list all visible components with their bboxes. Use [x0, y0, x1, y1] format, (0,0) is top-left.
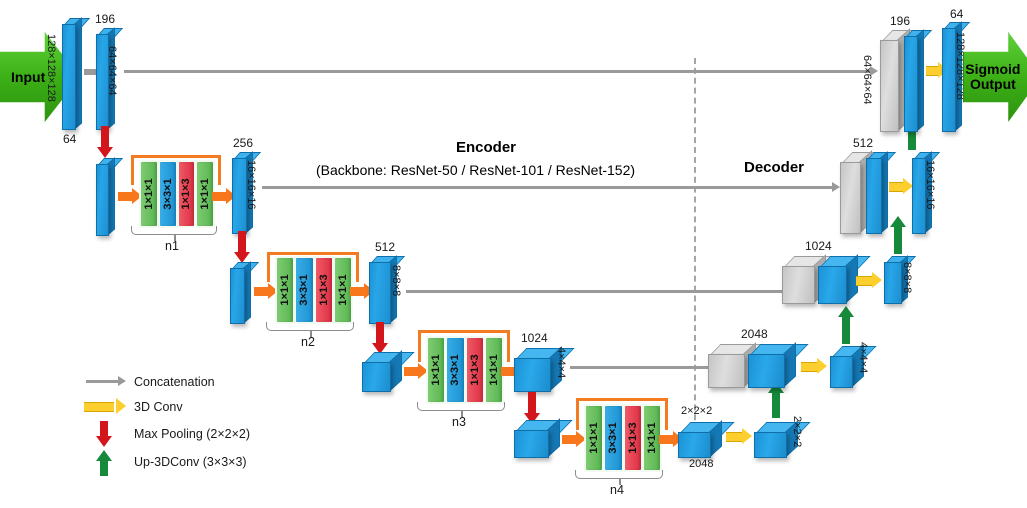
legend: Concatenation 3D Conv Max Pooling (2×2×2… [82, 372, 312, 472]
output-chevron: Sigmoid Output [963, 32, 1027, 122]
channels-256: 256 [233, 137, 253, 149]
feature-block-row3-in [362, 352, 402, 392]
repeat-label-n2: n2 [301, 335, 315, 349]
residual-block-n4: 1×1×1 3×3×1 1×1×3 1×1×1 [584, 404, 662, 472]
legend-concatenation-head-icon [118, 376, 126, 386]
conv-layer-1x1x1-b: 1×1×1 [486, 338, 502, 402]
residual-in-arrow-n3 [404, 363, 428, 380]
brace-n2 [266, 322, 354, 331]
decoder-resolution-1: 64×64×64 [861, 55, 872, 105]
concat-line-row3 [570, 366, 718, 369]
bottleneck-resolution-top: 2×2×2 [681, 406, 712, 417]
bottleneck-channels: 2048 [689, 459, 713, 470]
feature-block-row1-in [96, 158, 115, 236]
architecture-diagram: Encoder (Backbone: ResNet-50 / ResNet-10… [0, 0, 1027, 508]
conv-layer-1x1x1-a: 1×1×1 [428, 338, 444, 402]
input-label: Input [11, 70, 45, 85]
decoder-title: Decoder [744, 159, 804, 176]
conv-layer-1x1x1-b: 1×1×1 [197, 162, 213, 226]
legend-conv3d-icon [84, 398, 126, 414]
decoder-block-2 [866, 152, 888, 234]
legend-label-concatenation: Concatenation [134, 375, 215, 389]
conv-layer-3x3x1: 3×3×1 [296, 258, 312, 322]
upconv-arrow-2 [890, 216, 906, 254]
output-channels-64: 64 [950, 8, 963, 20]
brace-n3 [417, 402, 505, 411]
decoder-block-4 [748, 344, 796, 388]
conv-layer-1x1x3: 1×1×3 [316, 258, 332, 322]
conv3d-arrow-dec4 [801, 358, 827, 374]
resolution-64-enc: 64×64×64 [106, 46, 117, 96]
conv-layer-1x1x3: 1×1×3 [467, 338, 483, 402]
conv-layer-1x1x1-a: 1×1×1 [277, 258, 293, 322]
conv-layer-1x1x1-a: 1×1×1 [141, 162, 157, 226]
concat-channels-2048: 2048 [741, 328, 768, 340]
maxpool-arrow-3 [372, 322, 388, 354]
bottleneck-out-resolution: 2×2×2 [791, 416, 802, 447]
conv-layer-3x3x1: 3×3×1 [160, 162, 176, 226]
output-label: Sigmoid Output [965, 62, 1020, 91]
decoder-resolution-4: 4×4×4 [857, 342, 868, 373]
concat-line-row0 [124, 70, 872, 73]
conv-layer-1x1x1-a: 1×1×1 [586, 406, 602, 470]
resolution-16-enc: 16×16×16 [245, 160, 256, 210]
concat-channels-196: 196 [890, 15, 910, 27]
repeat-label-n1: n1 [165, 239, 179, 253]
legend-maxpool-icon [96, 421, 112, 447]
channels-512-enc: 512 [375, 241, 395, 253]
legend-label-upconv: Up-3DConv (3×3×3) [134, 455, 247, 469]
decoder-resolution-2: 16×16×16 [924, 160, 935, 210]
channels-64-stem: 64 [63, 133, 76, 145]
conv-layer-1x1x3: 1×1×3 [179, 162, 195, 226]
concat-channels-1024: 1024 [805, 240, 832, 252]
conv-layer-3x3x1: 3×3×1 [447, 338, 463, 402]
repeat-label-n3: n3 [452, 415, 466, 429]
maxpool-arrow-1 [97, 126, 113, 158]
conv3d-arrow-dec3 [856, 272, 882, 288]
conv3d-arrow-bottleneck [726, 428, 752, 444]
concat-line-row2 [406, 290, 786, 293]
residual-block-n2: 1×1×1 3×3×1 1×1×3 1×1×1 [275, 256, 353, 324]
legend-concatenation-icon [86, 380, 120, 383]
conv-layer-1x1x1-b: 1×1×1 [644, 406, 660, 470]
feature-block-row4-in [514, 420, 560, 458]
channels-1024-enc: 1024 [521, 332, 548, 344]
conv-layer-1x1x3: 1×1×3 [625, 406, 641, 470]
residual-in-arrow-n4 [562, 431, 586, 448]
feature-block-row2-in [230, 262, 251, 324]
residual-block-n3: 1×1×1 3×3×1 1×1×3 1×1×1 [426, 336, 504, 404]
repeat-label-n4: n4 [610, 483, 624, 497]
encoder-title: Encoder [456, 139, 516, 156]
decoder-resolution-3: 8×8×8 [901, 262, 912, 293]
upconv-arrow-3 [838, 306, 854, 344]
brace-n4 [575, 470, 663, 479]
conv3d-arrow-dec2 [889, 178, 913, 194]
conv-layer-1x1x1-b: 1×1×1 [335, 258, 351, 322]
conv-layer-3x3x1: 3×3×1 [605, 406, 621, 470]
maxpool-arrow-2 [234, 231, 250, 263]
concat-channels-512: 512 [853, 137, 873, 149]
encoder-decoder-divider [694, 58, 696, 440]
concat-head-row1 [832, 182, 840, 192]
brace-n1 [131, 226, 217, 235]
resolution-4-enc: 4×4×4 [555, 347, 566, 378]
legend-label-conv3d: 3D Conv [134, 400, 183, 414]
decoder-block-3 [818, 256, 858, 304]
legend-upconv-icon [96, 450, 112, 476]
concat-line-row1 [262, 186, 834, 189]
decoder-block-1 [904, 30, 924, 132]
feature-block-128 [62, 18, 82, 130]
residual-block-n1: 1×1×1 3×3×1 1×1×3 1×1×1 [139, 160, 215, 228]
bottleneck-block-2048 [678, 422, 722, 458]
resolution-8-enc: 8×8×8 [390, 265, 401, 296]
channels-196: 196 [95, 13, 115, 25]
encoder-subtitle: (Backbone: ResNet-50 / ResNet-101 / ResN… [316, 162, 635, 178]
legend-label-maxpool: Max Pooling (2×2×2) [134, 427, 250, 441]
resolution-128: 128×128×128 [45, 34, 56, 102]
